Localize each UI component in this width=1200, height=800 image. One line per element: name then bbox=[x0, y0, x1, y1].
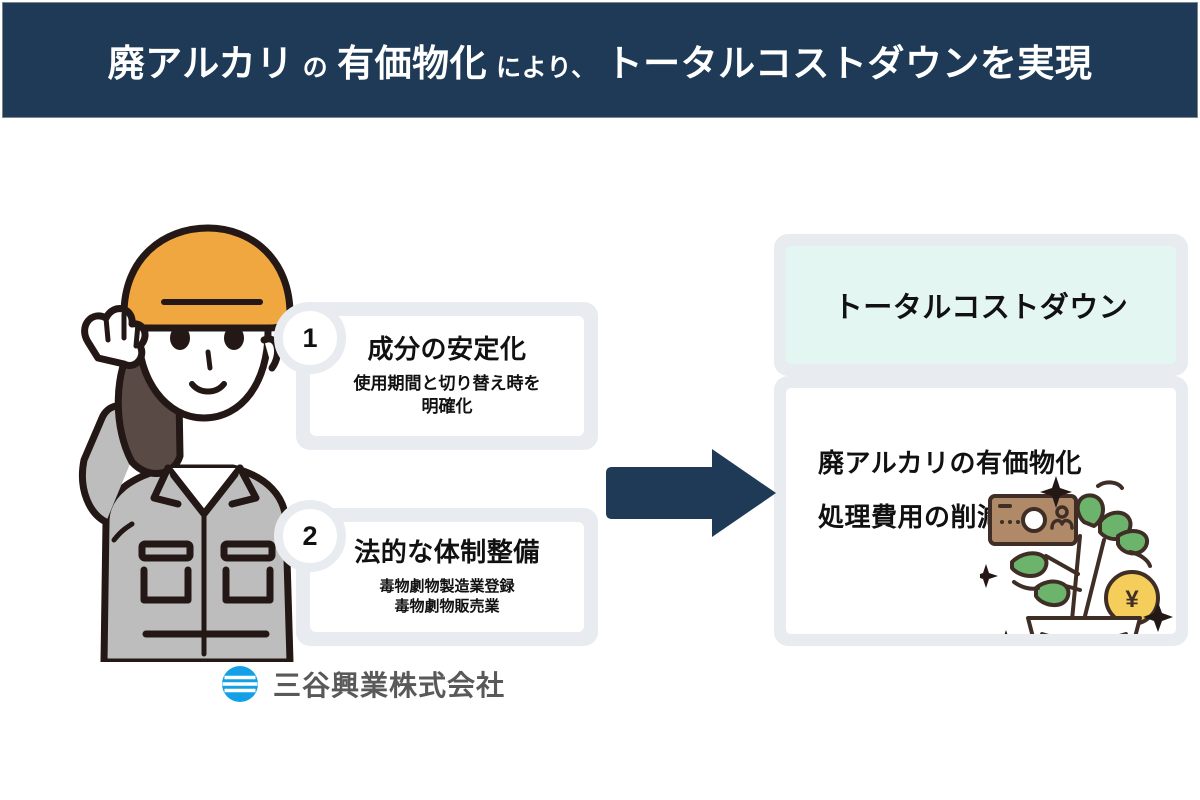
step-1-subtitle-line-1: 使用期間と切り替え時を bbox=[354, 372, 541, 395]
leaf-right bbox=[1118, 531, 1147, 553]
step-card-1-inner: 成分の安定化 使用期間と切り替え時を 明確化 bbox=[310, 316, 584, 436]
step-2-title: 法的な体制整備 bbox=[354, 536, 540, 569]
page-title: 廃アルカリ の 有価物化 により、 トータルコストダウンを実現 bbox=[106, 33, 1095, 87]
money-plant-illustration: ¥ bbox=[980, 470, 1176, 634]
step-2-subtitle-line-1: 毒物劇物製造業登録 bbox=[379, 577, 514, 598]
step-1-number-badge: 1 bbox=[274, 302, 346, 374]
result-headline-panel: トータルコストダウン bbox=[774, 234, 1188, 376]
result-headline-text: トータルコストダウン bbox=[834, 284, 1128, 326]
leaf-left-2 bbox=[1036, 582, 1068, 605]
mitani-logo-icon bbox=[220, 664, 260, 704]
sparkle-bottom-left bbox=[994, 630, 1018, 634]
slide-root: 廃アルカリ の 有価物化 により、 トータルコストダウンを実現 bbox=[0, 0, 1200, 800]
step-card-2-inner: 法的な体制整備 毒物劇物製造業登録 毒物劇物販売業 bbox=[310, 522, 584, 632]
arrow-shape bbox=[606, 449, 776, 537]
plant-pot bbox=[1028, 618, 1140, 634]
step-1-subtitle-line-2: 明確化 bbox=[422, 395, 473, 418]
leaf-left bbox=[1012, 553, 1046, 576]
title-segment-1: 廃アルカリ bbox=[108, 33, 294, 87]
eye-right bbox=[224, 326, 244, 350]
plant-stem-second bbox=[1084, 540, 1104, 620]
title-segment-5: トータルコストダウンを実現 bbox=[606, 33, 1093, 87]
title-segment-3: 有価物化 bbox=[337, 33, 487, 87]
plant-accent-1 bbox=[1098, 482, 1122, 488]
eye-left bbox=[170, 326, 190, 350]
worker-helmet bbox=[124, 228, 290, 328]
worker-nose bbox=[208, 352, 210, 368]
title-segment-4: により、 bbox=[496, 48, 597, 84]
title-segment-2: の bbox=[303, 48, 329, 84]
flow-arrow bbox=[600, 447, 778, 539]
plant-branch-left bbox=[1046, 556, 1078, 574]
step-1-title: 成分の安定化 bbox=[367, 333, 526, 366]
result-headline-inner: トータルコストダウン bbox=[786, 246, 1176, 364]
banknote-portrait bbox=[1023, 509, 1045, 531]
sparkle-left bbox=[980, 564, 998, 588]
step-2-subtitle-line-2: 毒物劇物販売業 bbox=[394, 597, 499, 618]
company-name: 三谷興業株式会社 bbox=[273, 664, 505, 704]
step-2-number-badge: 2 bbox=[274, 500, 346, 572]
company-logo: 三谷興業株式会社 bbox=[220, 664, 505, 704]
worker-illustration bbox=[28, 222, 328, 662]
plant-stem-main bbox=[1072, 536, 1080, 620]
yen-coin-symbol: ¥ bbox=[1125, 586, 1139, 613]
plant-accent-2 bbox=[1130, 552, 1150, 566]
slide-header: 廃アルカリ の 有価物化 により、 トータルコストダウンを実現 bbox=[2, 2, 1198, 118]
plant-accent-3 bbox=[1014, 582, 1038, 589]
result-detail-inner: 廃アルカリの有価物化 処理費用の削減 bbox=[786, 388, 1176, 634]
result-detail-panel: 廃アルカリの有価物化 処理費用の削減 bbox=[774, 376, 1188, 646]
